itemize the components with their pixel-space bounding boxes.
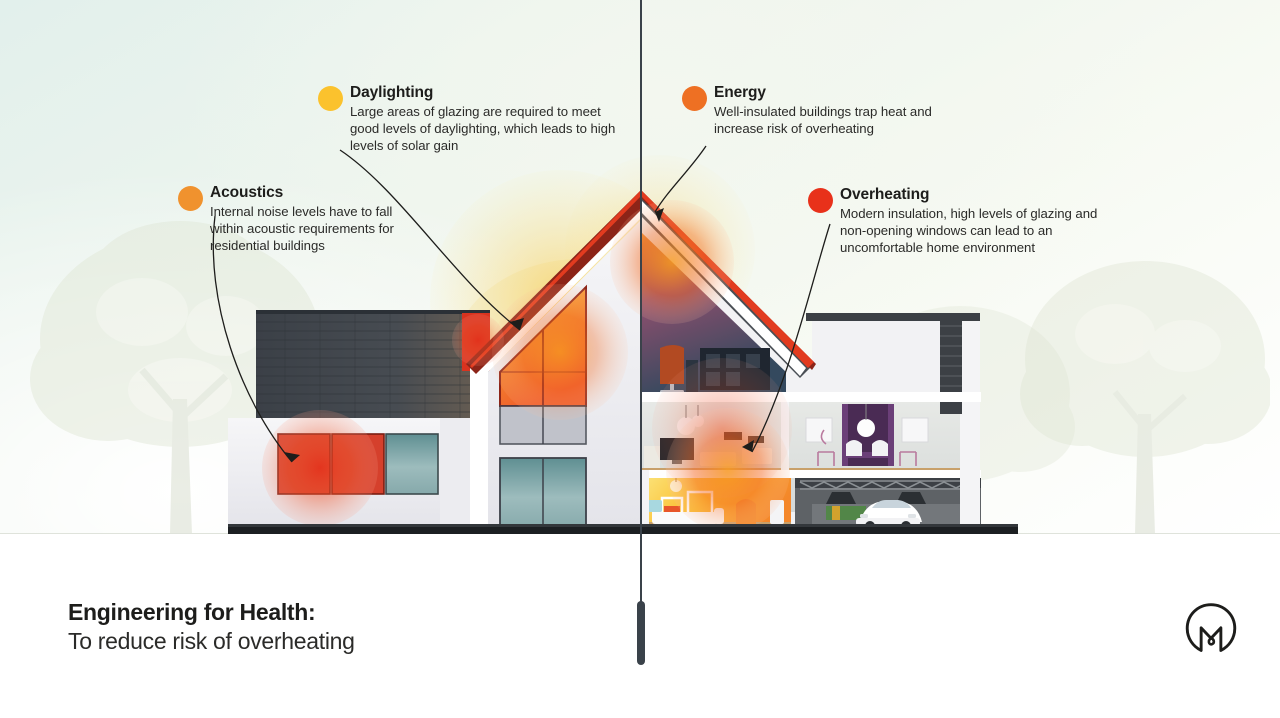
daylighting-title: Daylighting: [350, 84, 625, 102]
acoustics-title: Acoustics: [210, 184, 420, 202]
overheating-title: Overheating: [840, 186, 1102, 204]
daylighting-text: Large areas of glazing are required to m…: [350, 103, 625, 155]
footer-title: Engineering for Health:: [68, 598, 355, 627]
overheating-bullet-icon: [808, 188, 833, 213]
infographic-canvas: Daylighting Large areas of glazing are r…: [0, 0, 1280, 718]
acoustics-text: Internal noise levels have to fall withi…: [210, 203, 420, 255]
center-divider-bar: [637, 601, 645, 665]
overheating-text: Modern insulation, high levels of glazin…: [840, 205, 1102, 257]
energy-title: Energy: [714, 84, 944, 102]
acoustics-bullet-icon: [178, 186, 203, 211]
energy-text: Well-insulated buildings trap heat and i…: [714, 103, 944, 138]
center-divider-line: [640, 0, 642, 534]
footer-caption: Engineering for Health: To reduce risk o…: [68, 598, 355, 657]
footer-subtitle: To reduce risk of overheating: [68, 627, 355, 657]
company-logo-m-icon: [1182, 600, 1240, 658]
daylighting-bullet-icon: [318, 86, 343, 111]
energy-bullet-icon: [682, 86, 707, 111]
